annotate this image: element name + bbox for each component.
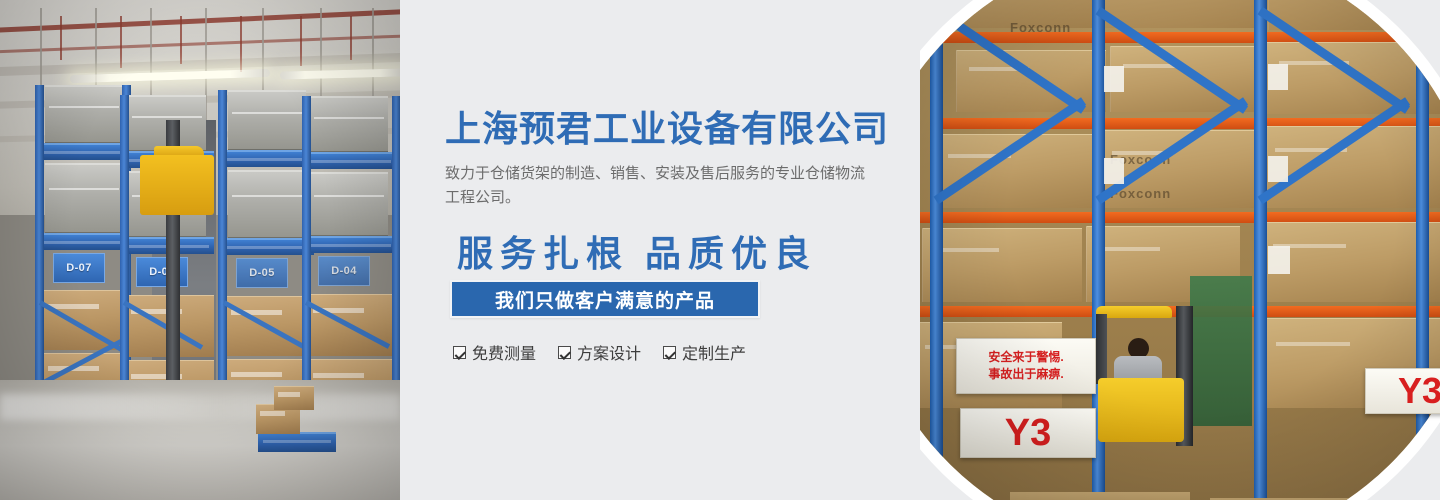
- feature-item: 免费测量: [453, 340, 536, 364]
- company-subtitle: 致力于仓储货架的制造、销售、安装及售后服务的专业仓储物流工程公司。: [445, 162, 865, 210]
- cta-button[interactable]: 我们只做客户满意的产品: [450, 280, 760, 318]
- photo-vignette: [0, 0, 400, 500]
- banner-content: 上海预君工业设备有限公司 致力于仓储货架的制造、销售、安装及售后服务的专业仓储物…: [445, 0, 915, 500]
- feature-label: 免费测量: [472, 340, 536, 364]
- company-title: 上海预君工业设备有限公司: [445, 100, 889, 152]
- right-photo-wrapper: Foxconn Foxconn Foxconn Foxconn: [920, 0, 1440, 500]
- feature-list: 免费测量 方案设计 定制生产: [453, 340, 746, 364]
- feature-item: 定制生产: [663, 340, 746, 364]
- feature-label: 方案设计: [577, 340, 641, 364]
- checkbox-checked-icon: [663, 346, 676, 359]
- checkbox-checked-icon: [453, 346, 466, 359]
- right-warehouse-photo: Foxconn Foxconn Foxconn Foxconn: [920, 0, 1440, 500]
- aisle-sign-secondary: Y3: [1365, 368, 1440, 414]
- checkbox-checked-icon: [558, 346, 571, 359]
- photo-vignette: [920, 0, 1440, 500]
- hero-banner: D-07 D-06: [0, 0, 1440, 500]
- feature-item: 方案设计: [558, 340, 641, 364]
- company-slogan: 服务扎根 品质优良: [457, 225, 817, 277]
- left-warehouse-photo: D-07 D-06: [0, 0, 400, 500]
- feature-label: 定制生产: [682, 340, 746, 364]
